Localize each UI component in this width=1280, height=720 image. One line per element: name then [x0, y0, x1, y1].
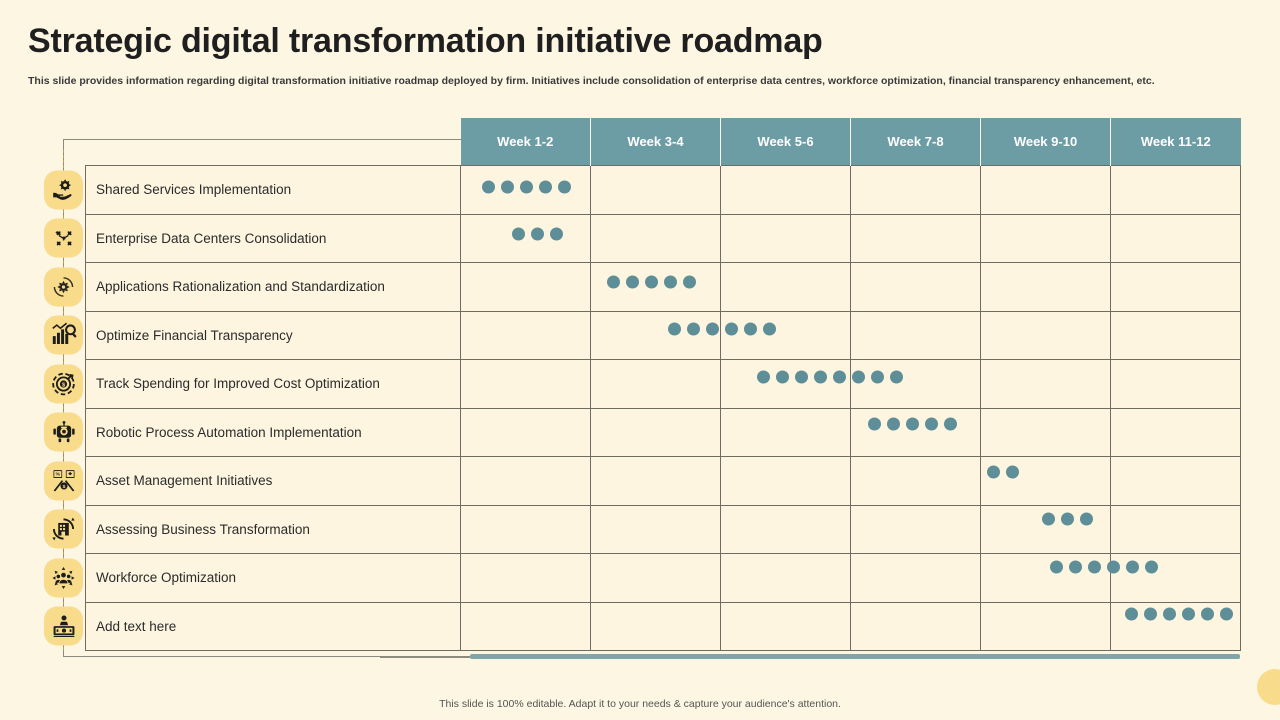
initiative-label-cell[interactable]: Optimize Financial Transparency [86, 311, 461, 360]
bottom-rule-teal [470, 654, 1240, 659]
hand-holding-gear-icon [44, 170, 83, 209]
timeline-cell[interactable] [1111, 311, 1241, 360]
timeline-cell[interactable] [721, 505, 851, 554]
timeline-cell[interactable] [851, 602, 981, 651]
timeline-cell[interactable] [721, 360, 851, 409]
slide-footer-note: This slide is 100% editable. Adapt it to… [0, 698, 1280, 710]
slide-canvas: Strategic digital transformation initiat… [0, 0, 1280, 720]
timeline-cell[interactable] [981, 408, 1111, 457]
column-header-week-11-12[interactable]: Week 11-12 [1111, 118, 1241, 166]
svg-text:$: $ [62, 484, 65, 490]
initiative-label-text: Track Spending for Improved Cost Optimiz… [96, 376, 380, 391]
timeline-cell[interactable] [851, 214, 981, 263]
timeline-cell[interactable] [851, 166, 981, 215]
timeline-cell[interactable] [461, 214, 591, 263]
table-row: Robotic Process Automation Implementatio… [86, 408, 1241, 457]
table-row: Enterprise Data Centers Consolidation [86, 214, 1241, 263]
initiative-label-cell[interactable]: Robotic Process Automation Implementatio… [86, 408, 461, 457]
table-body: Shared Services ImplementationEnterprise… [86, 166, 1241, 651]
table-row: $Track Spending for Improved Cost Optimi… [86, 360, 1241, 409]
roadmap-table: Week 1-2 Week 3-4 Week 5-6 Week 7-8 Week… [85, 118, 1241, 651]
timeline-cell[interactable] [461, 457, 591, 506]
column-header-week-3-4[interactable]: Week 3-4 [591, 118, 721, 166]
timeline-cell[interactable] [1111, 602, 1241, 651]
page-subtitle: This slide provides information regardin… [28, 75, 1228, 89]
initiative-label-cell[interactable]: Add text here [86, 602, 461, 651]
timeline-cell[interactable] [851, 505, 981, 554]
timeline-cell[interactable] [1111, 360, 1241, 409]
table-row: Assessing Business Transformation [86, 505, 1241, 554]
timeline-cell[interactable] [851, 311, 981, 360]
timeline-cell[interactable] [851, 554, 981, 603]
timeline-cell[interactable] [1111, 457, 1241, 506]
initiative-label-text: Assessing Business Transformation [96, 522, 310, 537]
page-title: Strategic digital transformation initiat… [28, 22, 823, 61]
initiative-label-cell[interactable]: %$Asset Management Initiatives [86, 457, 461, 506]
timeline-cell[interactable] [461, 505, 591, 554]
timeline-cell[interactable] [851, 263, 981, 312]
timeline-cell[interactable] [981, 602, 1111, 651]
table-row: Optimize Financial Transparency [86, 311, 1241, 360]
timeline-cell[interactable] [981, 263, 1111, 312]
timeline-cell[interactable] [721, 166, 851, 215]
timeline-cell[interactable] [1111, 505, 1241, 554]
timeline-cell[interactable] [981, 166, 1111, 215]
initiative-label-cell[interactable]: $Track Spending for Improved Cost Optimi… [86, 360, 461, 409]
initiative-label-text: Optimize Financial Transparency [96, 328, 293, 343]
timeline-cell[interactable] [591, 263, 721, 312]
initiative-label-text: Robotic Process Automation Implementatio… [96, 425, 362, 440]
column-header-week-9-10[interactable]: Week 9-10 [981, 118, 1111, 166]
initiative-label-text: Shared Services Implementation [96, 182, 291, 197]
timeline-cell[interactable] [1111, 263, 1241, 312]
timeline-cell[interactable] [981, 554, 1111, 603]
timeline-cell[interactable] [461, 311, 591, 360]
asset-boxes-icon: %$ [44, 461, 83, 500]
timeline-cell[interactable] [461, 602, 591, 651]
bar-chart-magnifier-icon [44, 316, 83, 355]
timeline-cell[interactable] [981, 311, 1111, 360]
timeline-cell[interactable] [981, 505, 1111, 554]
timeline-cell[interactable] [851, 360, 981, 409]
column-header-week-5-6[interactable]: Week 5-6 [721, 118, 851, 166]
timeline-cell[interactable] [591, 166, 721, 215]
timeline-cell[interactable] [461, 166, 591, 215]
column-header-week-7-8[interactable]: Week 7-8 [851, 118, 981, 166]
table-row: Workforce Optimization [86, 554, 1241, 603]
timeline-cell[interactable] [721, 311, 851, 360]
gear-settings-icon [44, 267, 83, 306]
timeline-cell[interactable] [1111, 214, 1241, 263]
header-blank-cell [86, 118, 461, 166]
timeline-cell[interactable] [721, 263, 851, 312]
robot-icon [44, 413, 83, 452]
timeline-cell[interactable] [721, 554, 851, 603]
money-target-icon: $ [44, 364, 83, 403]
timeline-cell[interactable] [461, 360, 591, 409]
timeline-cell[interactable] [591, 311, 721, 360]
timeline-cell[interactable] [721, 457, 851, 506]
people-gear-icon [44, 558, 83, 597]
timeline-cell[interactable] [981, 214, 1111, 263]
initiative-label-cell[interactable]: Enterprise Data Centers Consolidation [86, 214, 461, 263]
timeline-cell[interactable] [591, 360, 721, 409]
timeline-cell[interactable] [461, 554, 591, 603]
initiative-label-text: Applications Rationalization and Standar… [96, 279, 385, 294]
timeline-cell[interactable] [1111, 554, 1241, 603]
table-row: Applications Rationalization and Standar… [86, 263, 1241, 312]
column-header-week-1-2[interactable]: Week 1-2 [461, 118, 591, 166]
timeline-cell[interactable] [981, 457, 1111, 506]
table-header-row: Week 1-2 Week 3-4 Week 5-6 Week 7-8 Week… [86, 118, 1241, 166]
timeline-cell[interactable] [591, 505, 721, 554]
timeline-cell[interactable] [721, 408, 851, 457]
timeline-cell[interactable] [591, 602, 721, 651]
initiative-label-text: Add text here [96, 619, 176, 634]
timeline-cell[interactable] [591, 408, 721, 457]
timeline-cell[interactable] [591, 457, 721, 506]
initiative-label-cell[interactable]: Assessing Business Transformation [86, 505, 461, 554]
initiative-label-cell[interactable]: Workforce Optimization [86, 554, 461, 603]
timeline-cell[interactable] [461, 263, 591, 312]
table-row: %$Asset Management Initiatives [86, 457, 1241, 506]
building-refresh-icon [44, 510, 83, 549]
network-nodes-icon [44, 219, 83, 258]
timeline-cell[interactable] [721, 602, 851, 651]
table-row: Add text here [86, 602, 1241, 651]
timeline-cell[interactable] [721, 214, 851, 263]
money-stack-icon [44, 607, 83, 646]
timeline-cell[interactable] [851, 408, 981, 457]
timeline-cell[interactable] [1111, 408, 1241, 457]
svg-text:%: % [55, 472, 60, 478]
initiative-label-text: Asset Management Initiatives [96, 473, 272, 488]
initiative-label-text: Enterprise Data Centers Consolidation [96, 231, 326, 246]
timeline-cell[interactable] [591, 214, 721, 263]
timeline-cell[interactable] [981, 360, 1111, 409]
timeline-cell[interactable] [851, 457, 981, 506]
timeline-cell[interactable] [461, 408, 591, 457]
initiative-label-cell[interactable]: Applications Rationalization and Standar… [86, 263, 461, 312]
bottom-rule-dark [380, 656, 470, 658]
table-row: Shared Services Implementation [86, 166, 1241, 215]
timeline-cell[interactable] [1111, 166, 1241, 215]
initiative-label-cell[interactable]: Shared Services Implementation [86, 166, 461, 215]
timeline-cell[interactable] [591, 554, 721, 603]
initiative-label-text: Workforce Optimization [96, 570, 236, 585]
